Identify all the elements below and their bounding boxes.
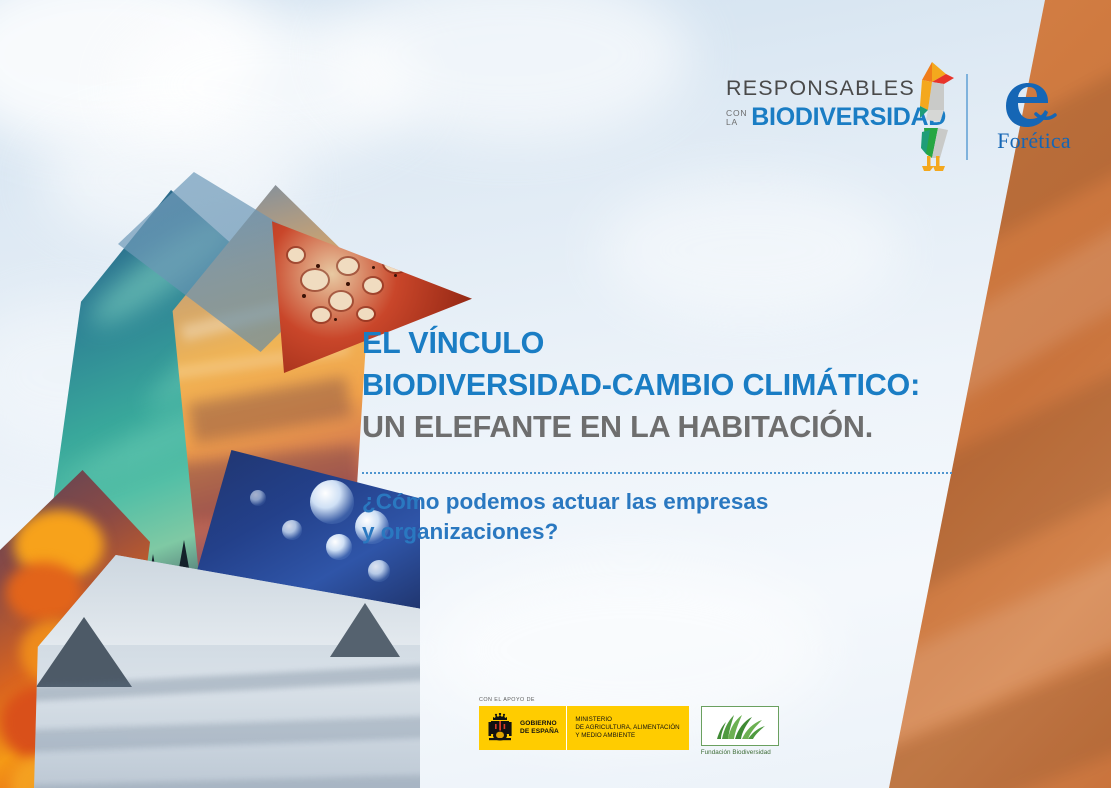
spain-coat-of-arms-icon [487,713,513,743]
ministry-line1: MINISTERIO [575,716,679,724]
subtitle-line-1: ¿Cómo podemos actuar las empresas [362,487,922,517]
photo-collage [0,150,420,788]
con-la-text: CON LA [726,109,747,130]
ministry-line2: DE AGRICULTURA, ALIMENTACIÓN [575,724,679,732]
government-logo[interactable]: GOBIERNO DE ESPAÑA MINISTERIO DE AGRICUL… [479,706,689,750]
government-name: GOBIERNO DE ESPAÑA [520,720,566,736]
foretica-wordmark: Forética [988,128,1080,154]
subtitle-line-2: y organizaciones? [362,517,922,547]
header-logos: RESPONSABLES CON LA BIODIVERSIDAD [726,64,1026,174]
title-block: EL VÍNCULO BIODIVERSIDAD-CAMBIO CLIMÁTIC… [362,322,962,448]
la-text: LA [726,118,747,128]
foundation-caption: Fundación Biodiversidad [701,749,779,756]
ministry-name: MINISTERIO DE AGRICULTURA, ALIMENTACIÓN … [567,716,688,741]
subtitle-block: ¿Cómo podemos actuar las empresas y orga… [362,487,922,547]
footer-logos: CON EL APOYO DE [479,697,779,759]
grass-icon-box [701,706,779,746]
bird-icon [908,58,954,174]
title-divider [362,472,954,474]
title-line-2: BIODIVERSIDAD-CAMBIO CLIMÁTICO: [362,364,962,406]
gov-name-line2: DE ESPAÑA [520,728,559,736]
foretica-e-mark [1003,78,1065,130]
fundacion-biodiversidad-logo[interactable]: Fundación Biodiversidad [701,706,779,756]
foretica-logo[interactable]: Forética [988,78,1080,154]
support-label: CON EL APOYO DE [479,697,779,703]
gov-name-line1: GOBIERNO [520,720,559,728]
grass-icon [712,712,768,740]
ministry-line3: Y MEDIO AMBIENTE [575,732,679,740]
title-line-3: UN ELEFANTE EN LA HABITACIÓN. [362,406,962,448]
cover-page: RESPONSABLES CON LA BIODIVERSIDAD [0,0,1111,788]
title-line-1: EL VÍNCULO [362,322,962,364]
logo-divider [966,74,968,160]
